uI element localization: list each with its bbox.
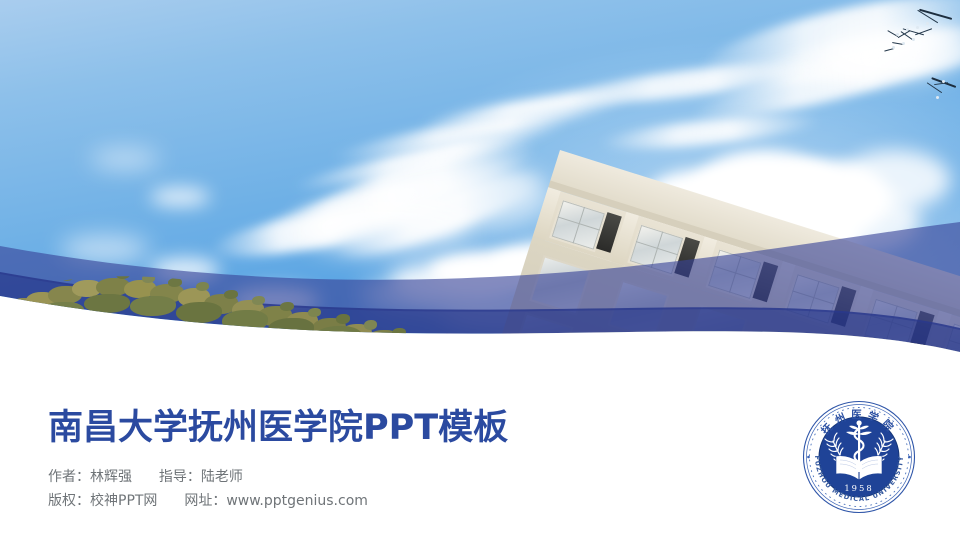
university-seal-logo: 抚州医学院 FUZHOU MEDICAL UNIVERSITY (800, 398, 918, 516)
advisor-text: 指导：陆老师 (159, 469, 243, 485)
website-text: 网址：www.pptgenius.com (184, 493, 368, 509)
author-text: 作者：林辉强 (48, 469, 132, 485)
page-title: 南昌大学抚州医学院PPT模板 (48, 406, 508, 450)
logo-year: 1958 (844, 483, 873, 493)
bare-branches (880, 0, 960, 110)
copyright-text: 版权：校神PPT网 (48, 493, 157, 509)
author-line: 作者：林辉强 指导：陆老师 (48, 467, 243, 487)
copyright-line: 版权：校神PPT网 网址：www.pptgenius.com (48, 491, 368, 511)
hero-photo (0, 0, 960, 380)
ppt-title-slide: 南昌大学抚州医学院PPT模板 作者：林辉强 指导：陆老师 版权：校神PPT网 网… (0, 0, 960, 540)
